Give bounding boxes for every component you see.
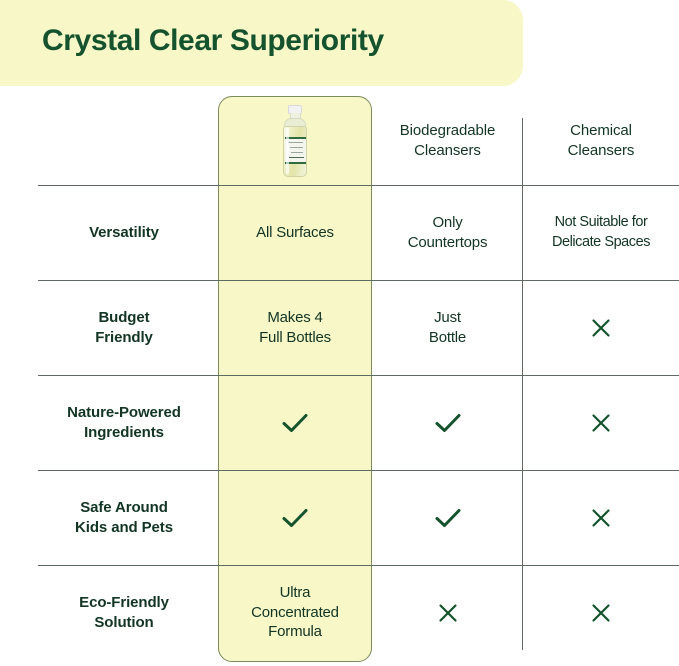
cell-chemical: Not Suitable for Delicate Spaces [523,185,679,280]
cell-biodegradable [372,470,523,565]
check-icon [280,411,310,435]
header-cell-chemical: Chemical Cleansers [523,96,679,185]
table-row: Eco-Friendly Solution Ultra Concentrated… [0,565,679,660]
header-biodegradable-line1: Biodegradable [400,121,495,141]
check-icon [280,506,310,530]
feature-line-2: Kids and Pets [75,518,173,538]
value-line-1: Just [429,308,466,328]
feature-line-1: Safe Around [75,498,173,518]
value-line-1: Ultra [251,583,339,603]
row-feature-label: Versatility [0,185,218,280]
product-bottle-icon [277,105,313,177]
header-cell-feature [0,96,218,185]
table-row: Budget Friendly Makes 4 Full Bottles Jus… [0,280,679,375]
header-cell-biodegradable: Biodegradable Cleansers [372,96,523,185]
cross-icon [589,506,613,530]
header-chemical-line2: Cleansers [568,141,635,161]
feature-line-2: Ingredients [67,423,181,443]
comparison-table-page: Crystal Clear Superiority [0,0,679,666]
value-line-2: Bottle [429,328,466,348]
cell-product: Makes 4 Full Bottles [218,280,372,375]
value-line-1: All Surfaces [256,223,334,243]
cell-biodegradable: Just Bottle [372,280,523,375]
check-icon [433,506,463,530]
value-line-2: Concentrated [251,603,339,623]
cell-biodegradable: Only Countertops [372,185,523,280]
cell-biodegradable [372,375,523,470]
page-title: Crystal Clear Superiority [42,24,384,58]
cell-biodegradable [372,565,523,660]
row-feature-label: Nature-Powered Ingredients [0,375,218,470]
header-cell-product [218,96,372,185]
feature-line-2: Solution [79,613,169,633]
value-line-1: Makes 4 [259,308,331,328]
cell-product [218,470,372,565]
feature-line-2: Friendly [95,328,153,348]
check-icon [433,411,463,435]
cell-chemical [523,470,679,565]
cross-icon [589,316,613,340]
value-line-2: Delicate Spaces [552,233,650,252]
comparison-table: Biodegradable Cleansers Chemical Cleanse… [0,96,679,660]
cell-chemical [523,565,679,660]
feature-line-1: Versatility [89,223,159,243]
row-feature-label: Budget Friendly [0,280,218,375]
feature-line-1: Nature-Powered [67,403,181,423]
value-line-2: Countertops [408,233,488,253]
cell-product: All Surfaces [218,185,372,280]
header-biodegradable-line2: Cleansers [400,141,495,161]
cross-icon [436,601,460,625]
cell-product: Ultra Concentrated Formula [218,565,372,660]
cross-icon [589,601,613,625]
row-feature-label: Safe Around Kids and Pets [0,470,218,565]
cell-product [218,375,372,470]
value-line-3: Formula [251,622,339,642]
cell-chemical [523,375,679,470]
table-header-row: Biodegradable Cleansers Chemical Cleanse… [0,96,679,185]
feature-line-1: Budget [95,308,153,328]
header-chemical-line1: Chemical [568,121,635,141]
row-feature-label: Eco-Friendly Solution [0,565,218,660]
table-row: Safe Around Kids and Pets [0,470,679,565]
table-row: Nature-Powered Ingredients [0,375,679,470]
value-line-1: Not Suitable for [552,213,650,232]
value-line-1: Only [408,213,488,233]
cell-chemical [523,280,679,375]
bottle-highlight-icon [286,128,289,174]
table-row: Versatility All Surfaces Only Countertop… [0,185,679,280]
feature-line-1: Eco-Friendly [79,593,169,613]
value-line-2: Full Bottles [259,328,331,348]
cross-icon [589,411,613,435]
